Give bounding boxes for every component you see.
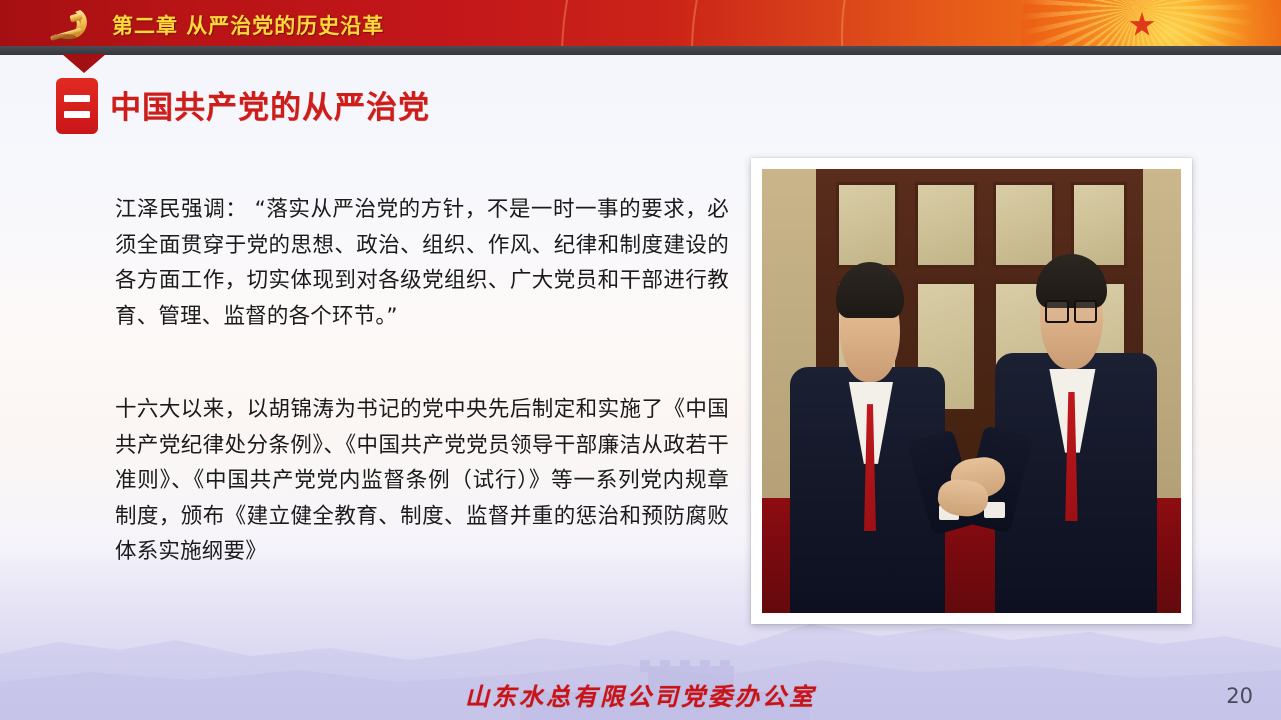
section-title: 中国共产党的从严治党 xyxy=(110,82,430,127)
section-number-badge: 二 xyxy=(56,78,98,134)
person-hair xyxy=(836,262,904,318)
leaders-handshake-photo xyxy=(762,169,1181,613)
footer-organization-name: 山东水总有限公司党委办公室 xyxy=(0,677,1281,712)
triangle-down-icon xyxy=(62,54,106,73)
page-number: 20 xyxy=(1226,684,1253,708)
banner-underline-bar xyxy=(0,46,1281,55)
eyeglasses-icon xyxy=(1045,300,1068,323)
badge-stroke-bottom xyxy=(64,111,90,118)
photo-person-left xyxy=(779,240,963,613)
paragraph-jiang-zemin-quote: 江泽民强调： “落实从严治党的方针，不是一时一事的要求，必须全面贯穿于党的思想、… xyxy=(115,192,729,334)
photo-person-right xyxy=(980,231,1173,613)
hammer-sickle-emblem-icon xyxy=(40,4,98,44)
slide-canvas: 第二章 从严治党的历史沿革 二 中国共产党的从严治党 江泽民强调： “落实从严治… xyxy=(0,0,1281,720)
photo-frame xyxy=(751,158,1192,624)
badge-stroke-top xyxy=(64,95,90,102)
paragraph-party-regulations: 十六大以来，以胡锦涛为书记的党中央先后制定和实施了《中国共产党纪律处分条例》、《… xyxy=(115,392,729,570)
chapter-title: 第二章 从严治党的历史沿革 xyxy=(112,10,384,40)
chapter-banner: 第二章 从严治党的历史沿革 xyxy=(0,0,1281,46)
eyeglasses-icon xyxy=(1074,300,1097,323)
